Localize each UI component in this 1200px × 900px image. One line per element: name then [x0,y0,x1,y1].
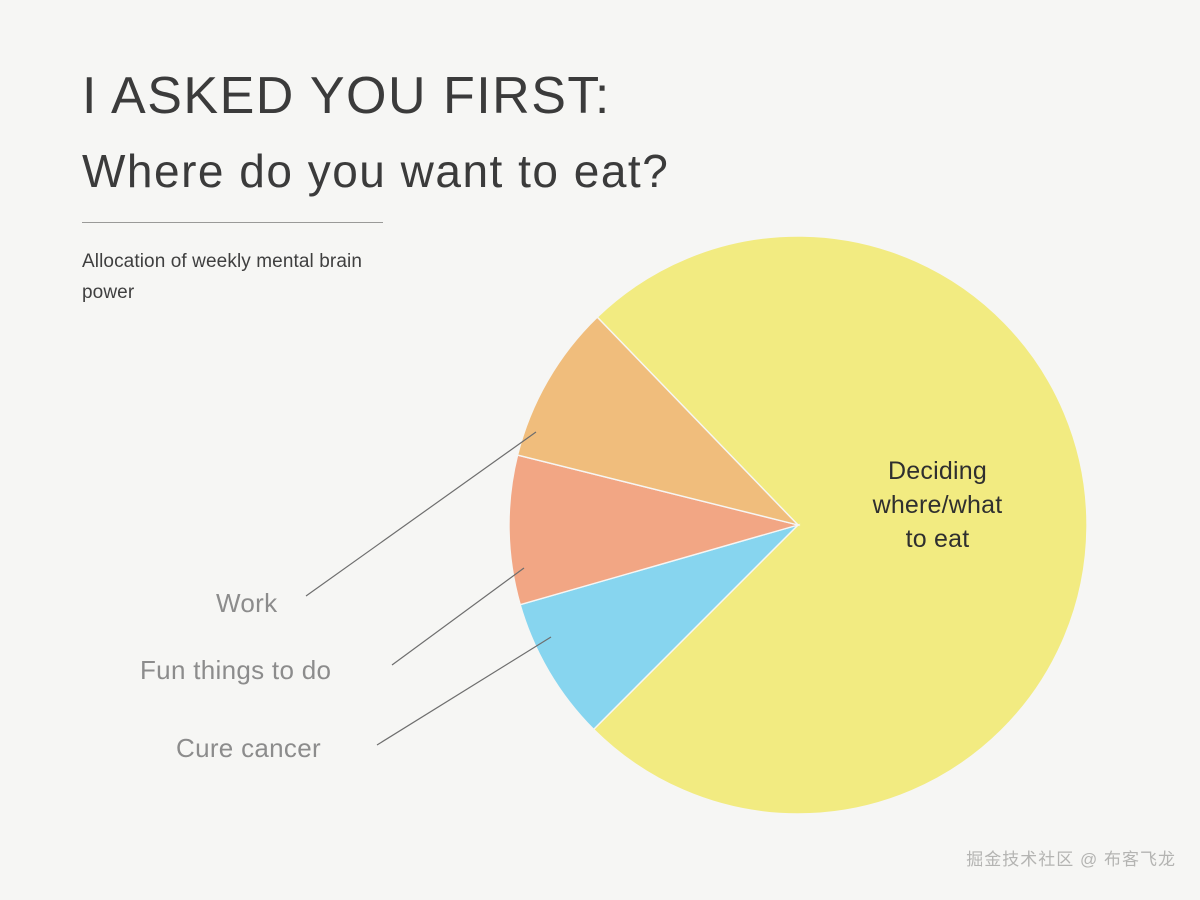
leader-line-work [306,432,536,596]
watermark: 掘金技术社区 @ 布客飞龙 [966,845,1176,870]
chart-subtitle: Allocation of weekly mental brain power [82,246,412,309]
pie-slice-label-deciding-line1: Deciding [845,455,1030,489]
page-title-line-2: Where do you want to eat? [82,122,782,194]
leader-line-cure [377,637,551,745]
pie-slice-label-deciding: Deciding where/what to eat [845,455,1030,556]
pie-callout-label-cure-cancer: Cure cancer [176,733,321,764]
pie-slice-label-deciding-line2: where/what [845,489,1030,523]
header-block: I ASKED YOU FIRST: Where do you want to … [82,70,782,194]
pie-slice-label-deciding-line3: to eat [845,523,1030,557]
pie-callout-label-work: Work [216,588,277,619]
pie-slice-work[interactable] [520,525,798,729]
pie-callout-label-fun-things-to-do: Fun things to do [140,655,331,686]
pie-slice-fun-things-to-do[interactable] [509,455,798,605]
leader-line-fun [392,568,524,665]
slide-canvas: I ASKED YOU FIRST: Where do you want to … [0,0,1200,900]
pie-slice-cure-cancer[interactable] [518,317,798,525]
leader-line-group [306,432,551,745]
title-divider [82,222,383,223]
page-title-line-1: I ASKED YOU FIRST: [82,70,782,122]
